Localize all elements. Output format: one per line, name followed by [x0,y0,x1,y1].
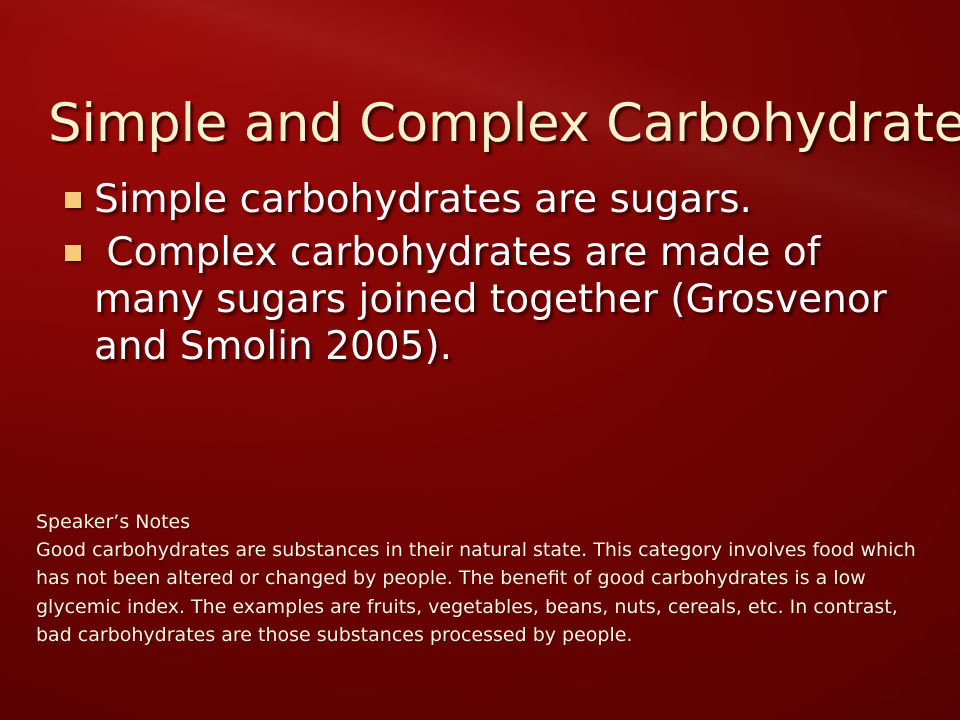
speaker-notes-text: Good carbohydrates are substances in the… [36,536,932,649]
speaker-notes-heading: Speaker’s Notes [36,508,932,536]
bullet-item-1: Simple carbohydrates are sugars. [60,176,910,223]
slide-title: Simple and Complex Carbohydrates [48,94,916,154]
square-bullet-icon [65,245,81,261]
slide-body-bullet-list: Simple carbohydrates are sugars. Complex… [60,176,910,376]
bullet-item-2: Complex carbohydrates are made of many s… [60,229,910,370]
speaker-notes-block: Speaker’s Notes Good carbohydrates are s… [36,508,932,649]
square-bullet-icon [65,192,81,208]
bullet-item-1-text: Simple carbohydrates are sugars. [94,176,910,223]
bullet-item-2-text: Complex carbohydrates are made of many s… [94,229,910,370]
slide-canvas: Simple and Complex Carbohydrates Simple … [0,0,960,720]
